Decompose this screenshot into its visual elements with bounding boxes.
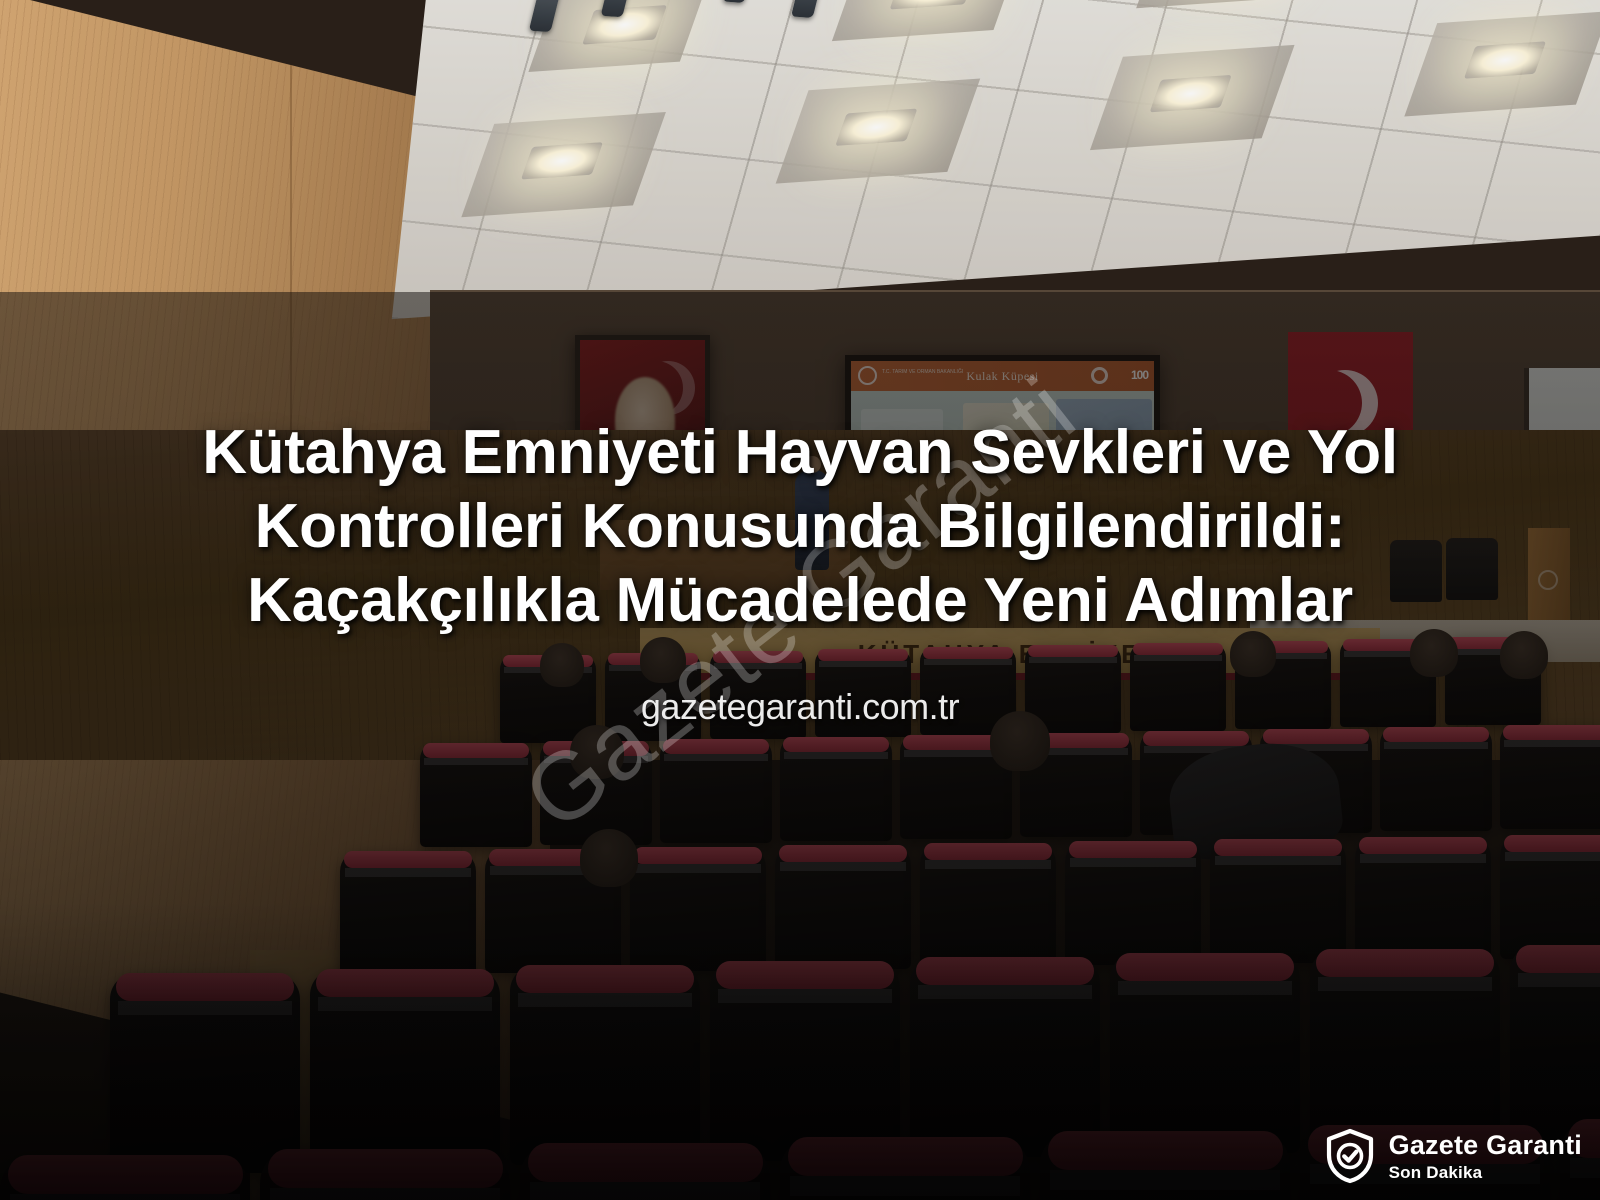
brand-name: Gazete Garanti (1389, 1132, 1582, 1159)
headline-line-1: Kütahya Emniyeti Hayvan Sevkleri ve Yol (120, 416, 1480, 490)
photo-tint-top (0, 0, 1600, 292)
site-domain-text: gazetegaranti.com.tr (0, 686, 1600, 728)
brand-tagline: Son Dakika (1389, 1164, 1582, 1181)
headline: Kütahya Emniyeti Hayvan Sevkleri ve Yol … (0, 416, 1600, 638)
headline-line-3: Kaçakçılıkla Mücadelede Yeni Adımlar (120, 564, 1480, 638)
brand-logo[interactable]: Gazete Garanti Son Dakika (1323, 1128, 1582, 1184)
headline-line-2: Kontrolleri Konusunda Bilgilendirildi: (120, 490, 1480, 564)
brand-text-block: Gazete Garanti Son Dakika (1389, 1132, 1582, 1181)
shield-check-icon (1323, 1128, 1377, 1184)
news-thumbnail-card: T.C. TARIM VE ORMAN BAKANLIĞI Kulak Küpe… (0, 0, 1600, 1200)
